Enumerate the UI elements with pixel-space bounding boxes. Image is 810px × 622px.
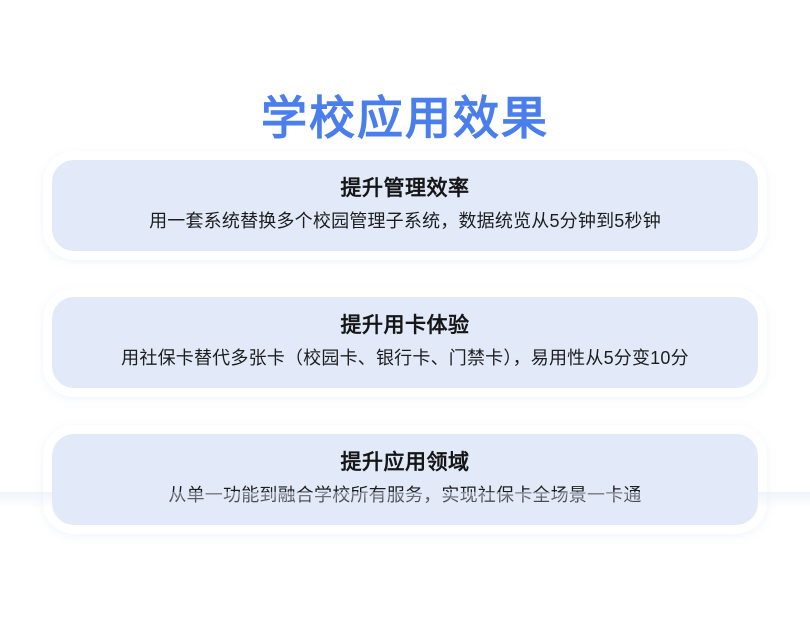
poster-root: 学校应用效果 提升管理效率 用一套系统替换多个校园管理子系统，数据统览从5分钟到… — [0, 0, 810, 622]
benefit-card: 提升用卡体验 用社保卡替代多张卡（校园卡、银行卡、门禁卡），易用性从5分变10分 — [44, 289, 766, 396]
benefit-card-list: 提升管理效率 用一套系统替换多个校园管理子系统，数据统览从5分钟到5秒钟 提升用… — [40, 152, 770, 533]
page-title: 学校应用效果 — [0, 89, 810, 147]
benefit-card-description: 用一套系统替换多个校园管理子系统，数据统览从5分钟到5秒钟 — [76, 207, 734, 235]
benefit-card-heading: 提升管理效率 — [76, 174, 734, 204]
benefit-card-description: 用社保卡替代多张卡（校园卡、银行卡、门禁卡），易用性从5分变10分 — [76, 344, 734, 372]
benefit-card-heading: 提升用卡体验 — [76, 311, 734, 341]
benefit-card-heading: 提升应用领域 — [76, 448, 734, 478]
benefit-card: 提升应用领域 从单一功能到融合学校所有服务，实现社保卡全场景一卡通 — [44, 426, 766, 533]
benefit-card-description: 从单一功能到融合学校所有服务，实现社保卡全场景一卡通 — [76, 481, 734, 509]
benefit-card: 提升管理效率 用一套系统替换多个校园管理子系统，数据统览从5分钟到5秒钟 — [44, 152, 766, 259]
